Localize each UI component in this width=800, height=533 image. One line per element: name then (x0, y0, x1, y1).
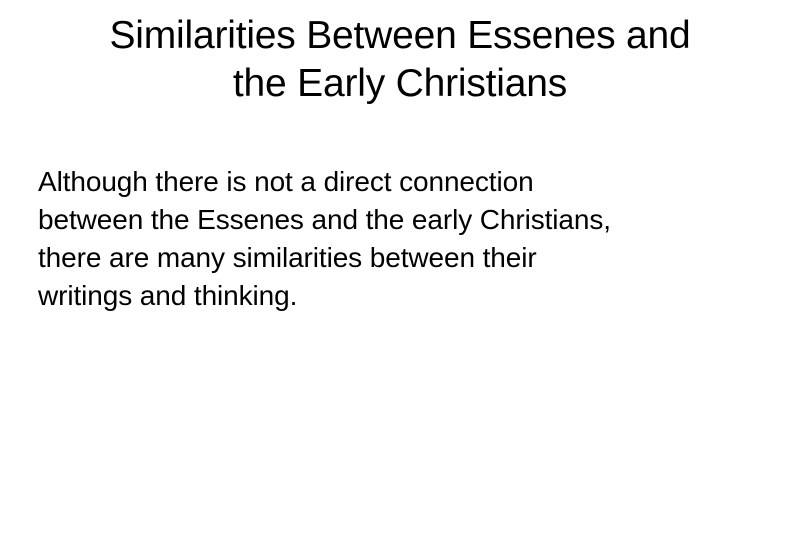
slide-body-text: Although there is not a direct connectio… (38, 163, 678, 315)
slide-body-placeholder[interactable]: Although there is not a direct connectio… (38, 163, 678, 315)
slide-title-placeholder[interactable]: Similarities Between Essenes and the Ear… (40, 12, 760, 108)
slide-title: Similarities Between Essenes and the Ear… (40, 12, 760, 108)
presentation-slide: Similarities Between Essenes and the Ear… (0, 0, 800, 533)
